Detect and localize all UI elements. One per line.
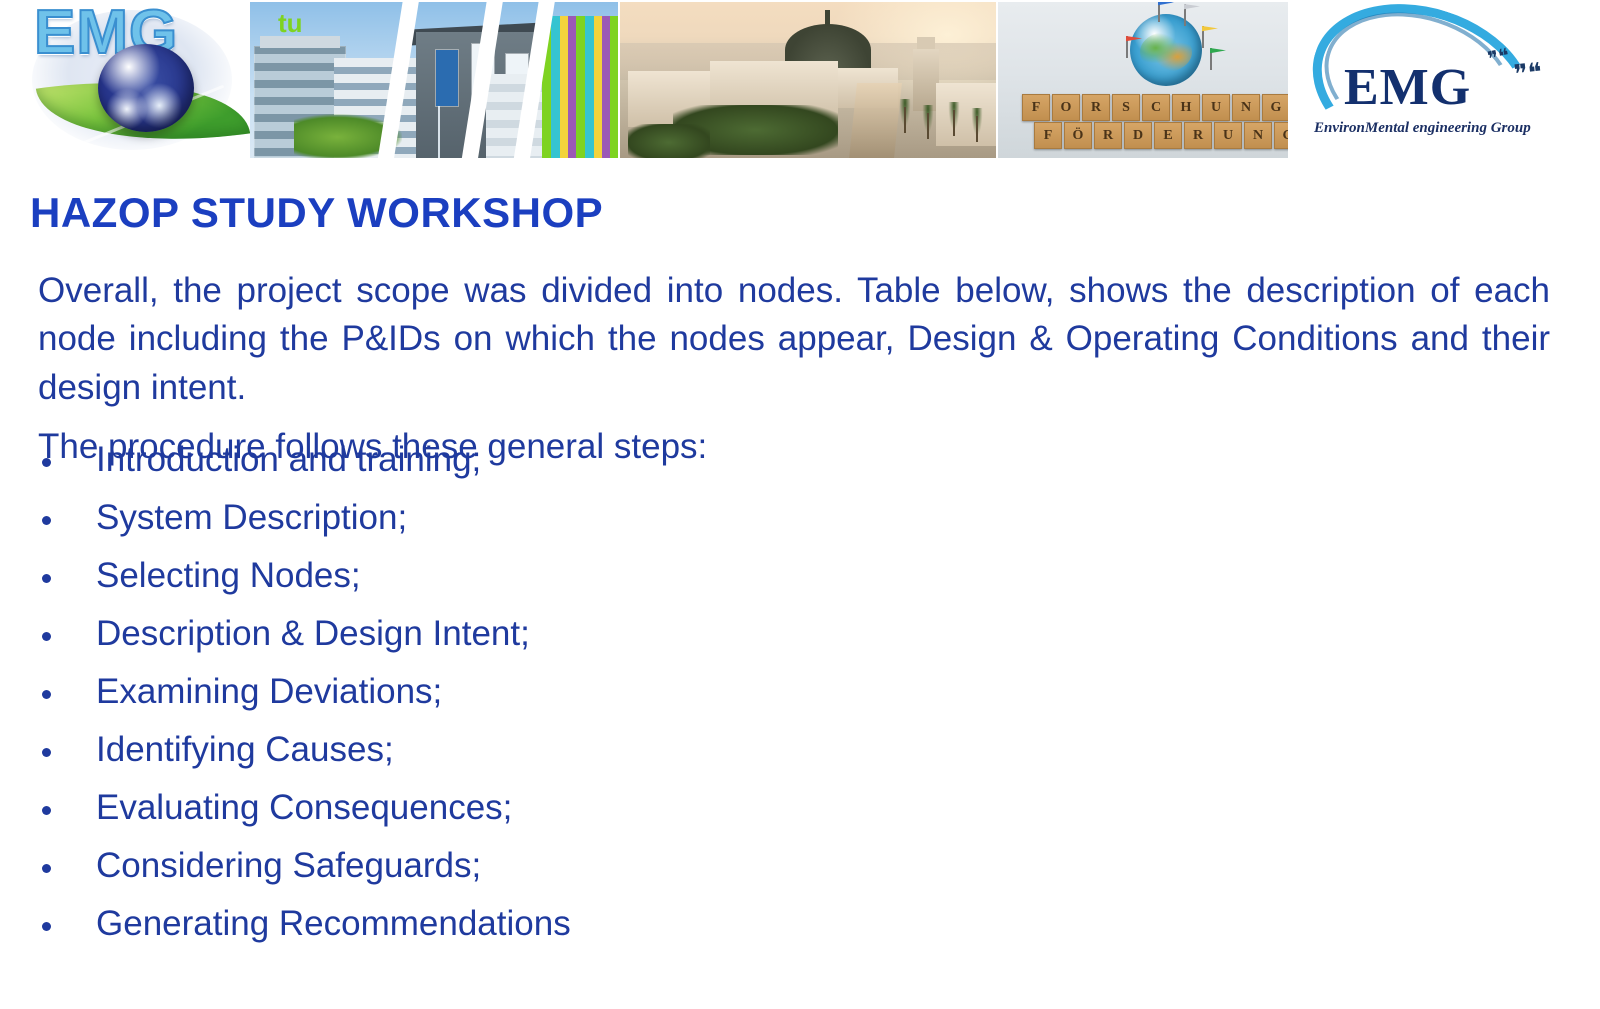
forschungs-letter-tile: N (1232, 94, 1260, 121)
forschungs-tile-row: FORSCHUNGS (1022, 94, 1288, 121)
earth-globe-icon (98, 44, 194, 132)
flying-bird-icon: ❞❝ (1513, 59, 1544, 88)
procedure-step-item: Description & Design Intent; (38, 616, 1438, 674)
forschungs-letter-tile: F (1022, 94, 1050, 121)
procedure-step-label: Identifying Causes; (96, 730, 394, 769)
foerderung-letter-tile: Ö (1064, 122, 1092, 149)
bullet-dot-icon (42, 748, 51, 757)
procedure-step-label: Examining Deviations; (96, 672, 442, 711)
procedure-steps-list: Introduction and training;System Descrip… (38, 442, 1438, 964)
procedure-step-item: Considering Safeguards; (38, 848, 1438, 906)
bullet-dot-icon (42, 690, 51, 699)
procedure-step-label: Introduction and training; (96, 440, 481, 479)
forschungs-letter-tile: G (1262, 94, 1288, 121)
procedure-step-item: Identifying Causes; (38, 732, 1438, 790)
palm-tree (970, 108, 984, 142)
procedure-step-label: System Description; (96, 498, 407, 537)
emg-corporate-tagline: EnvironMental engineering Group (1314, 120, 1531, 137)
bullet-dot-icon (42, 806, 51, 815)
procedure-step-label: Evaluating Consequences; (96, 788, 512, 827)
forschungs-letter-tile: U (1202, 94, 1230, 121)
procedure-step-item: Selecting Nodes; (38, 558, 1438, 616)
foerderung-letter-tile: G (1274, 122, 1288, 149)
map-pin-flag (1210, 48, 1226, 59)
bullet-dot-icon (42, 922, 51, 931)
foerderung-letter-tile: R (1094, 122, 1122, 149)
procedure-step-item: Examining Deviations; (38, 674, 1438, 732)
foerderung-letter-tile: R (1184, 122, 1212, 149)
forschungs-letter-tile: H (1172, 94, 1200, 121)
bullet-dot-icon (42, 458, 51, 467)
garden-area (628, 124, 711, 158)
forschungsfoerderung-image: FORSCHUNGS FÖRDERUNG (998, 2, 1288, 158)
cairo-campus-aerial-image (620, 2, 996, 158)
procedure-step-label: Description & Design Intent; (96, 614, 530, 653)
procedure-step-item: Introduction and training; (38, 442, 1438, 500)
header-banner: EMG tu (0, 0, 1600, 162)
forschungs-letter-tile: C (1142, 94, 1170, 121)
flagged-globe-icon (1130, 14, 1202, 86)
campus-collage-image: tu (250, 2, 618, 158)
foerderung-letter-tile: N (1244, 122, 1272, 149)
map-pin-flag (1158, 2, 1174, 11)
procedure-step-label: Considering Safeguards; (96, 846, 481, 885)
bullet-dot-icon (42, 516, 51, 525)
procedure-step-item: System Description; (38, 500, 1438, 558)
building-colorful-facade (542, 16, 618, 158)
boulevard (849, 83, 902, 158)
emg-corporate-logo: ❞❝ ❞❝ EMG EnvironMental engineering Grou… (1292, 2, 1598, 158)
map-pin-flag (1202, 26, 1218, 37)
palm-tree (898, 99, 912, 133)
foerderung-letter-tile: U (1214, 122, 1242, 149)
palm-tree (947, 102, 961, 136)
intro-paragraph: Overall, the project scope was divided i… (38, 267, 1550, 412)
campus-building (936, 83, 996, 145)
emg-globe-logo: EMG (10, 0, 250, 158)
forschungs-letter-tile: O (1052, 94, 1080, 121)
map-pin-flag (1184, 4, 1200, 15)
banner-flag-blue (436, 50, 458, 106)
procedure-step-item: Generating Recommendations (38, 906, 1438, 964)
procedure-step-item: Evaluating Consequences; (38, 790, 1438, 848)
emg-corporate-wordmark: EMG (1344, 62, 1471, 114)
procedure-step-label: Generating Recommendations (96, 904, 571, 943)
foerderung-letter-tile: E (1154, 122, 1182, 149)
palm-tree (921, 105, 935, 139)
foerderung-letter-tile: F (1034, 122, 1062, 149)
forschungs-letter-tile: S (1112, 94, 1140, 121)
bullet-dot-icon (42, 864, 51, 873)
foerderung-letter-tile: D (1124, 122, 1152, 149)
forschungs-letter-tile: R (1082, 94, 1110, 121)
tu-logo-mark: tu (278, 10, 320, 36)
map-pin-flag (1126, 36, 1142, 47)
procedure-step-label: Selecting Nodes; (96, 556, 361, 595)
flying-bird-icon: ❞❝ (1486, 46, 1511, 70)
foerderung-tile-row: FÖRDERUNG (1034, 122, 1288, 149)
bullet-dot-icon (42, 632, 51, 641)
page-title: HAZOP STUDY WORKSHOP (30, 191, 603, 235)
bullet-dot-icon (42, 574, 51, 583)
